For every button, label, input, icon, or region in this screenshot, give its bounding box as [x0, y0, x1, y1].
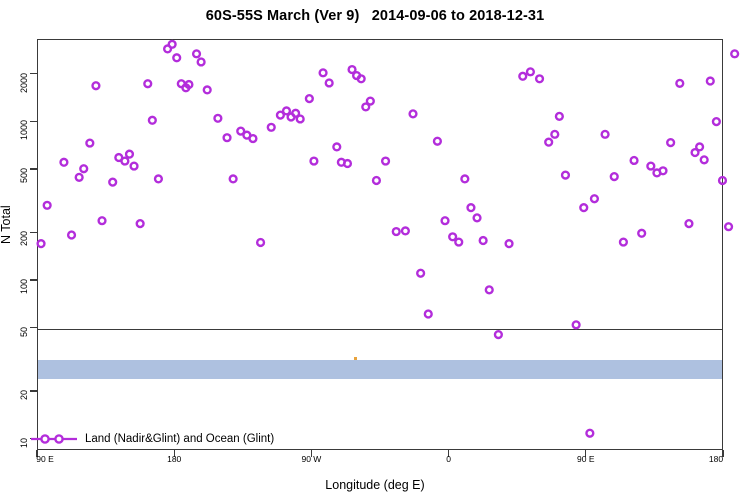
data-point	[326, 80, 333, 87]
data-point	[707, 78, 714, 85]
data-point	[591, 195, 598, 202]
data-point	[527, 68, 534, 75]
data-point	[611, 173, 618, 180]
data-point	[306, 95, 313, 102]
data-point	[268, 124, 275, 131]
data-point	[536, 75, 543, 82]
y-tick-label: 100	[19, 279, 29, 294]
y-tick-label: 200	[19, 231, 29, 246]
y-tick-mark	[30, 279, 37, 280]
y-tick-mark	[30, 327, 37, 328]
data-point	[109, 179, 116, 186]
data-point	[417, 270, 424, 277]
data-point	[198, 59, 205, 66]
data-point	[638, 230, 645, 237]
data-point	[393, 228, 400, 235]
data-point	[480, 237, 487, 244]
scatter-points-layer	[38, 40, 724, 451]
data-point	[367, 98, 374, 105]
data-point	[551, 131, 558, 138]
data-point	[144, 80, 151, 87]
y-tick-label: 50	[19, 327, 29, 337]
data-point	[506, 240, 513, 247]
data-point	[455, 239, 462, 246]
data-point	[80, 165, 87, 172]
data-point	[86, 140, 93, 147]
data-point	[713, 118, 720, 125]
data-point	[719, 177, 726, 184]
data-point	[676, 80, 683, 87]
y-tick-label: 1000	[19, 120, 29, 140]
y-axis-label: N Total	[0, 205, 13, 244]
x-tick-label: 0	[446, 454, 451, 464]
data-point	[556, 113, 563, 120]
legend-label: Land (Nadir&Glint) and Ocean (Glint)	[85, 433, 274, 445]
data-point	[137, 220, 144, 227]
data-point	[701, 156, 708, 163]
data-point	[126, 151, 133, 158]
data-point	[230, 176, 237, 183]
data-point	[602, 131, 609, 138]
legend-marker-icon	[29, 432, 79, 446]
data-point	[297, 116, 304, 123]
data-point	[647, 163, 654, 170]
y-tick-mark	[30, 121, 37, 122]
y-tick-mark	[30, 168, 37, 169]
data-point	[586, 430, 593, 437]
data-point	[121, 158, 128, 165]
data-point	[93, 82, 100, 89]
data-point	[474, 214, 481, 221]
data-point	[173, 54, 180, 61]
data-point	[44, 202, 51, 209]
data-point	[76, 174, 83, 181]
data-point	[725, 223, 732, 230]
data-point	[410, 110, 417, 117]
data-point	[358, 75, 365, 82]
data-point	[519, 73, 526, 80]
data-point	[468, 204, 475, 211]
chart-title: 60S-55S March (Ver 9) 2014-09-06 to 2018…	[0, 8, 750, 24]
x-axis-label: Longitude (deg E)	[0, 478, 750, 492]
y-tick-mark	[30, 73, 37, 74]
data-point	[686, 220, 693, 227]
data-point	[344, 160, 351, 167]
data-point	[149, 117, 156, 124]
data-point	[442, 217, 449, 224]
data-point	[193, 50, 200, 57]
data-point	[696, 144, 703, 151]
x-tick-label: 90 W	[301, 454, 321, 464]
data-point	[495, 331, 502, 338]
data-point	[131, 163, 138, 170]
data-point	[660, 167, 667, 174]
data-point	[257, 239, 264, 246]
data-point	[61, 159, 68, 166]
data-point	[311, 158, 318, 165]
data-point	[449, 233, 456, 240]
data-point	[155, 176, 162, 183]
data-point	[373, 177, 380, 184]
data-point	[320, 69, 327, 76]
plot-area	[37, 39, 723, 450]
data-point	[434, 138, 441, 145]
data-point	[68, 232, 75, 239]
data-point	[631, 157, 638, 164]
data-point	[224, 134, 231, 141]
legend: Land (Nadir&Glint) and Ocean (Glint)	[29, 432, 274, 446]
y-tick-label: 2000	[19, 73, 29, 93]
data-point	[667, 139, 674, 146]
y-tick-label: 500	[19, 168, 29, 183]
x-tick-label: 180	[167, 454, 181, 464]
data-point	[214, 115, 221, 122]
y-tick-mark	[30, 390, 37, 391]
figure-canvas: 60S-55S March (Ver 9) 2014-09-06 to 2018…	[0, 0, 750, 500]
data-point	[731, 50, 738, 57]
data-point	[573, 321, 580, 328]
data-point	[461, 176, 468, 183]
data-point	[486, 286, 493, 293]
x-tick-label: 90 E	[36, 454, 54, 464]
data-point	[250, 135, 257, 142]
data-point	[402, 228, 409, 235]
y-tick-label: 10	[19, 438, 29, 448]
x-tick-label: 180	[709, 454, 723, 464]
data-point	[562, 172, 569, 179]
data-point	[425, 311, 432, 318]
x-tick-label: 90 E	[577, 454, 595, 464]
data-point	[333, 144, 340, 151]
data-point	[580, 204, 587, 211]
data-point	[545, 139, 552, 146]
y-tick-mark	[30, 232, 37, 233]
data-point	[204, 87, 211, 94]
data-point	[620, 239, 627, 246]
data-point	[99, 217, 106, 224]
data-point	[382, 158, 389, 165]
data-point	[169, 41, 176, 48]
data-point	[38, 240, 45, 247]
y-tick-label: 20	[19, 390, 29, 400]
